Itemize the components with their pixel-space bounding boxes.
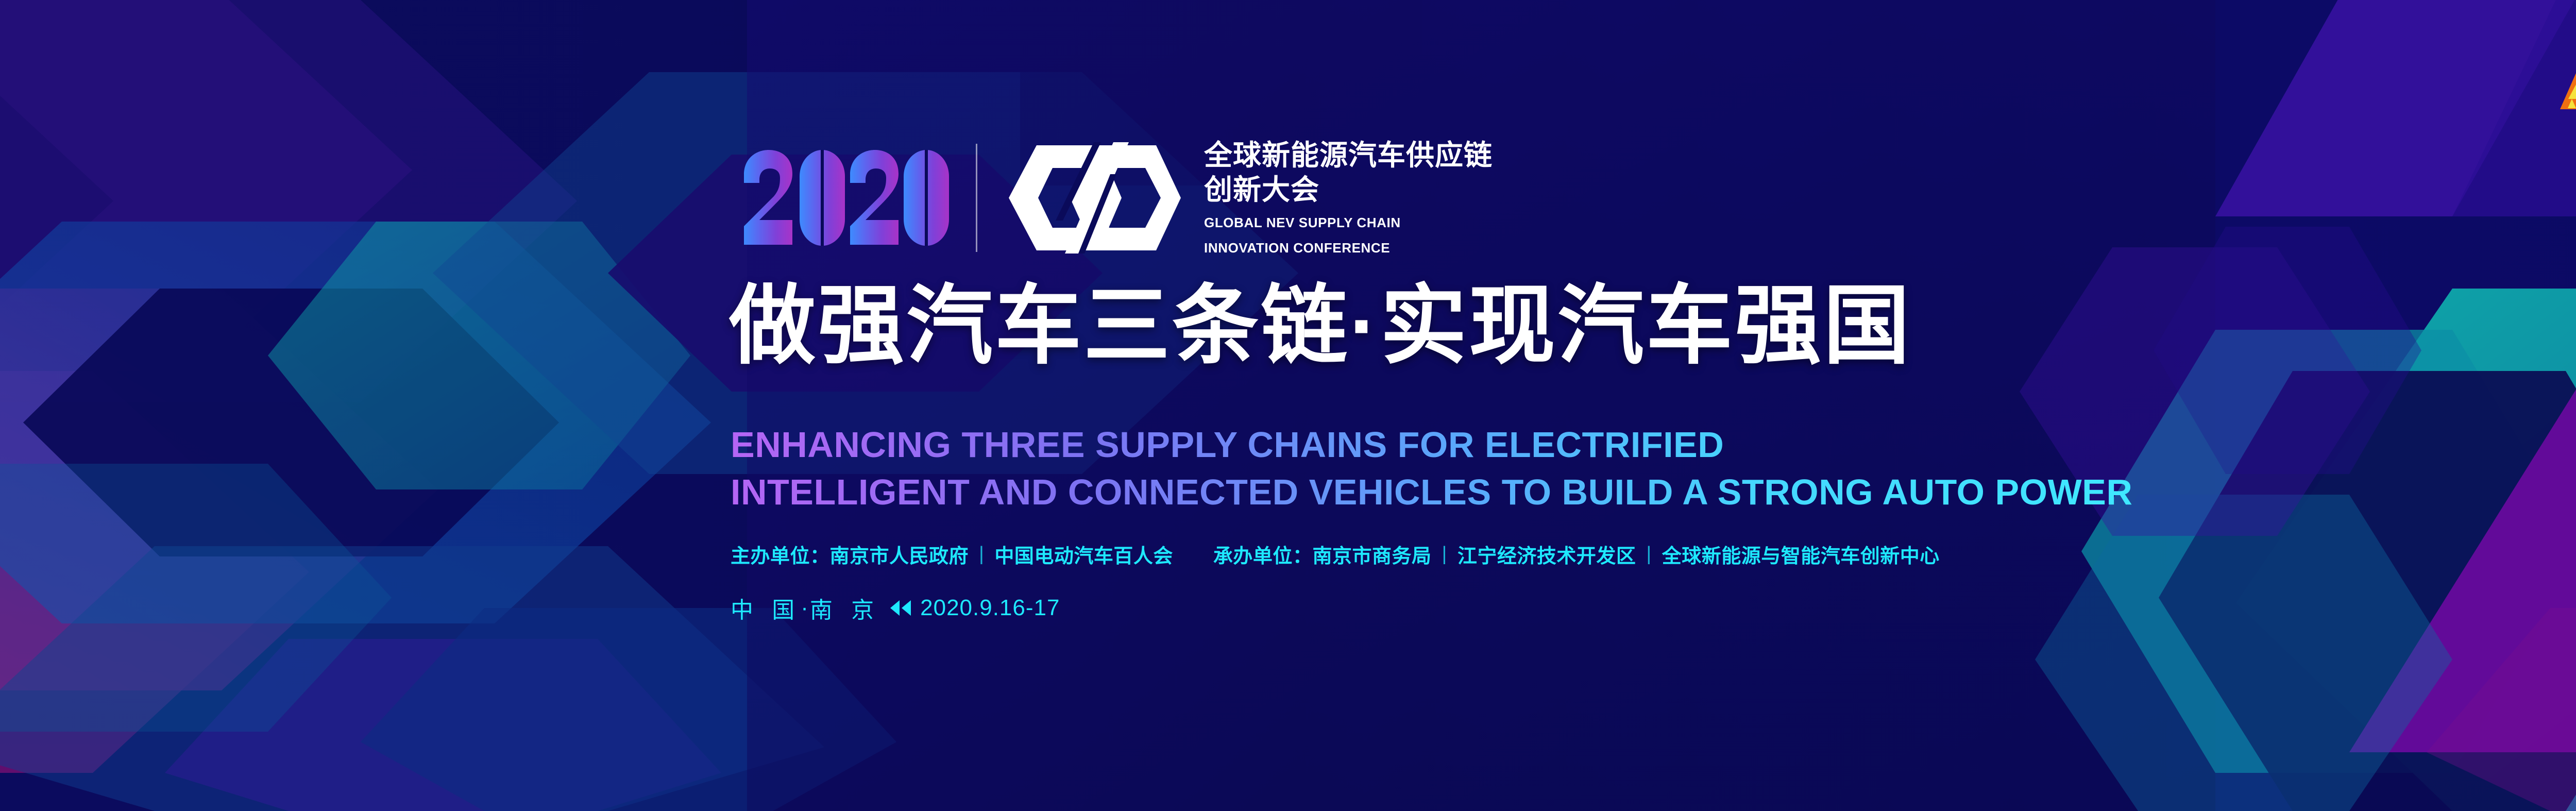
english-subtitle: ENHANCING THREE SUPPLY CHAINS FOR ELECTR…	[731, 421, 2132, 516]
event-date: 2020.9.16-17	[920, 595, 1060, 621]
host-1: 南京市人民政府	[830, 540, 969, 568]
organizer-3: 全球新能源与智能汽车创新中心	[1662, 540, 1940, 568]
organizer-separator-1: |	[1442, 543, 1447, 565]
host-label: 主办单位：	[731, 540, 830, 568]
logo-divider	[976, 144, 977, 252]
location-country: 中 国	[731, 592, 801, 624]
conference-name-block: 全球新能源汽车供应链 创新大会 GLOBAL NEV SUPPLY CHAIN …	[1204, 138, 1493, 258]
location-city: 南 京	[810, 592, 880, 624]
double-left-arrow-icon	[889, 599, 912, 617]
english-subtitle-line1: ENHANCING THREE SUPPLY CHAINS FOR ELECTR…	[731, 421, 2132, 469]
conference-name-en-line2: INNOVATION CONFERENCE	[1204, 239, 1493, 258]
conference-logo-lockup: 全球新能源汽车供应链 创新大会 GLOBAL NEV SUPPLY CHAIN …	[742, 138, 1493, 258]
conference-name-cn-line1: 全球新能源汽车供应链	[1204, 138, 1493, 173]
co-organizer-group: 承办单位： 南京市商务局 | 江宁经济技术开发区 | 全球新能源与智能汽车创新中…	[1213, 540, 1940, 568]
organizer-separator-2: |	[1646, 543, 1651, 565]
host-separator-1: |	[979, 543, 984, 565]
sierpinski-triangle-mark-icon	[2559, 55, 2576, 110]
interlocking-hexagon-chain-mark-icon	[1007, 138, 1182, 258]
conference-name-cn-line2: 创新大会	[1204, 173, 1493, 207]
organizer-2: 江宁经济技术开发区	[1458, 540, 1636, 568]
host-2: 中国电动汽车百人会	[994, 540, 1173, 568]
conference-banner: 全球新能源汽车供应链 创新大会 GLOBAL NEV SUPPLY CHAIN …	[0, 0, 2576, 811]
location-date-row: 中 国 · 南 京 2020.9.16-17	[731, 592, 1060, 624]
host-group: 主办单位： 南京市人民政府 | 中国电动汽车百人会	[731, 540, 1173, 568]
main-headline: 做强汽车三条链·实现汽车强国	[729, 282, 1912, 369]
organizer-label: 承办单位：	[1213, 540, 1313, 568]
conference-name-en-line1: GLOBAL NEV SUPPLY CHAIN	[1204, 213, 1493, 232]
partner-logos: 2019中国南京金秋经贸洽谈会 CHINA(NANJING) GOLDEN AU…	[2559, 47, 2576, 117]
organizer-row: 主办单位： 南京市人民政府 | 中国电动汽车百人会 承办单位： 南京市商务局 |…	[731, 540, 1940, 568]
year-2020-logotype	[742, 149, 949, 247]
background-geometric-pattern	[0, 0, 2576, 811]
english-subtitle-line2: INTELLIGENT AND CONNECTED VEHICLES TO BU…	[731, 469, 2132, 516]
partner-golden-autumn-fair: 2019中国南京金秋经贸洽谈会 CHINA(NANJING) GOLDEN AU…	[2559, 55, 2576, 110]
location-dot: ·	[801, 595, 810, 621]
organizer-1: 南京市商务局	[1312, 540, 1431, 568]
